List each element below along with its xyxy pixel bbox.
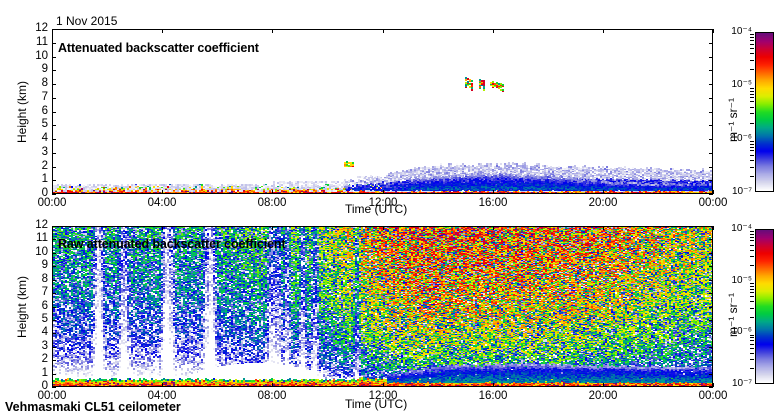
y-tick-label: 5 [22, 314, 48, 326]
colorbar-tick-label: 10⁻⁴ [722, 27, 752, 37]
y-tick-mark-right [709, 253, 713, 254]
colorbar-minor-tick [750, 107, 754, 108]
colorbar-minor-tick [750, 286, 754, 287]
colorbar-minor-tick [750, 155, 754, 156]
y-tick-label: 4 [22, 133, 48, 145]
x-tick-label: 00:00 [695, 198, 731, 210]
x-tick-mark-top [713, 226, 714, 230]
y-tick-mark [52, 57, 56, 58]
colorbar-minor-tick [750, 368, 754, 369]
y-tick-mark-right [709, 387, 713, 388]
x-tick-label: 04:00 [144, 198, 180, 210]
x-tick-mark [713, 383, 714, 387]
colorbar-minor-tick [750, 167, 754, 168]
y-tick-mark-right [709, 347, 713, 348]
x-tick-mark-top [162, 29, 163, 33]
y-tick-label: 3 [22, 147, 48, 159]
colorbar-tick-label: 10⁻⁵ [722, 80, 752, 90]
y-tick-mark [52, 139, 56, 140]
colorbar-minor-tick [750, 301, 754, 302]
colorbar-gradient-panel0 [756, 33, 773, 191]
x-tick-mark-top [603, 226, 604, 230]
y-tick-mark [52, 167, 56, 168]
y-tick-mark [52, 374, 56, 375]
x-tick-mark [162, 383, 163, 387]
x-tick-mark [603, 190, 604, 194]
y-tick-mark [52, 70, 56, 71]
colorbar-minor-tick [750, 265, 754, 266]
x-tick-mark [603, 383, 604, 387]
colorbar-minor-tick [750, 94, 754, 95]
y-tick-label: 5 [22, 119, 48, 131]
colorbar-minor-tick [750, 250, 754, 251]
y-tick-mark [52, 84, 56, 85]
y-tick-mark [52, 387, 56, 388]
x-tick-mark-top [52, 29, 53, 33]
y-tick-mark-right [709, 167, 713, 168]
colorbar-panel0 [755, 32, 774, 192]
y-tick-mark-right [709, 280, 713, 281]
y-tick-label: 7 [22, 92, 48, 104]
y-tick-mark-right [709, 194, 713, 195]
x-tick-mark-top [162, 226, 163, 230]
x-tick-label: 00:00 [695, 391, 731, 403]
y-tick-mark [52, 320, 56, 321]
colorbar-minor-tick [750, 337, 754, 338]
y-tick-label: 8 [22, 274, 48, 286]
y-tick-label: 6 [22, 106, 48, 118]
colorbar-unit-panel0: m⁻¹ sr⁻¹ [727, 98, 739, 142]
y-tick-mark-right [709, 333, 713, 334]
y-tick-mark-right [709, 139, 713, 140]
colorbar-gradient-panel1 [756, 230, 773, 383]
x-tick-mark-top [493, 29, 494, 33]
x-tick-mark [383, 383, 384, 387]
y-tick-mark [52, 43, 56, 44]
y-tick-label: 12 [22, 220, 48, 232]
colorbar-minor-tick [750, 344, 754, 345]
x-tick-label: 08:00 [254, 391, 290, 403]
colorbar-minor-tick [750, 101, 754, 102]
y-tick-mark [52, 125, 56, 126]
x-tick-mark [272, 190, 273, 194]
colorbar-minor-tick [750, 44, 754, 45]
colorbar-tick-label: 10⁻⁷ [722, 379, 752, 389]
y-tick-mark [52, 266, 56, 267]
panel-title-raw: Raw attenuated backscatter coefficient [58, 238, 286, 251]
date-label: 1 Nov 2015 [56, 15, 117, 27]
x-tick-mark [493, 190, 494, 194]
colorbar-minor-tick [750, 308, 754, 309]
y-tick-mark [52, 333, 56, 334]
colorbar-minor-tick [750, 40, 754, 41]
y-tick-mark-right [709, 84, 713, 85]
colorbar-minor-tick [750, 69, 754, 70]
colorbar-minor-tick [750, 348, 754, 349]
x-tick-mark-top [272, 226, 273, 230]
y-tick-mark [52, 153, 56, 154]
figure-caption: Vehmasmaki CL51 ceilometer [5, 401, 181, 414]
y-tick-label: 7 [22, 287, 48, 299]
colorbar-minor-tick [750, 91, 754, 92]
colorbar-minor-tick [750, 160, 754, 161]
x-tick-mark-top [493, 226, 494, 230]
x-tick-mark [713, 190, 714, 194]
y-tick-label: 9 [22, 260, 48, 272]
colorbar-tick-label: 10⁻⁷ [722, 187, 752, 197]
y-tick-label: 4 [22, 327, 48, 339]
y-tick-mark [52, 293, 56, 294]
y-tick-mark-right [709, 43, 713, 44]
x-tick-label: 12:00 [365, 198, 401, 210]
colorbar-minor-tick [750, 289, 754, 290]
colorbar-minor-tick [750, 113, 754, 114]
colorbar-unit-panel1: m⁻¹ sr⁻¹ [727, 293, 739, 337]
y-tick-label: 11 [22, 233, 48, 245]
x-tick-label: 16:00 [475, 391, 511, 403]
colorbar-minor-tick [750, 296, 754, 297]
colorbar-minor-tick [750, 237, 754, 238]
colorbar-minor-tick [750, 292, 754, 293]
colorbar-minor-tick [750, 359, 754, 360]
y-tick-mark-right [709, 98, 713, 99]
x-tick-label: 20:00 [585, 198, 621, 210]
y-tick-mark [52, 194, 56, 195]
y-tick-mark-right [709, 112, 713, 113]
y-tick-mark [52, 112, 56, 113]
y-tick-mark-right [709, 70, 713, 71]
y-tick-label: 12 [22, 23, 48, 35]
colorbar-panel1 [755, 229, 774, 384]
colorbar-minor-tick [750, 150, 754, 151]
y-tick-label: 8 [22, 78, 48, 90]
x-tick-label: 12:00 [365, 391, 401, 403]
y-tick-mark-right [709, 293, 713, 294]
colorbar-minor-tick [750, 123, 754, 124]
y-tick-label: 6 [22, 301, 48, 313]
colorbar-minor-tick [750, 317, 754, 318]
x-tick-mark [52, 190, 53, 194]
x-tick-label: 20:00 [585, 391, 621, 403]
x-tick-mark-top [272, 29, 273, 33]
y-tick-label: 9 [22, 64, 48, 76]
y-tick-mark-right [709, 266, 713, 267]
panel-title-attenuated: Attenuated backscatter coefficient [58, 42, 259, 55]
y-tick-mark [52, 347, 56, 348]
x-tick-label: 08:00 [254, 198, 290, 210]
y-tick-mark [52, 360, 56, 361]
y-tick-mark-right [709, 125, 713, 126]
colorbar-minor-tick [750, 53, 754, 54]
x-tick-mark-top [603, 29, 604, 33]
x-tick-mark-top [383, 29, 384, 33]
y-tick-label: 2 [22, 161, 48, 173]
colorbar-minor-tick [750, 256, 754, 257]
y-tick-mark [52, 239, 56, 240]
y-tick-mark-right [709, 239, 713, 240]
colorbar-minor-tick [750, 245, 754, 246]
y-tick-mark-right [709, 374, 713, 375]
colorbar-minor-tick [750, 48, 754, 49]
y-tick-mark-right [709, 360, 713, 361]
y-tick-mark-right [709, 307, 713, 308]
y-tick-label: 10 [22, 247, 48, 259]
x-tick-mark [52, 383, 53, 387]
y-tick-label: 2 [22, 354, 48, 366]
x-tick-mark [493, 383, 494, 387]
x-tick-label: 16:00 [475, 198, 511, 210]
colorbar-tick-label: 10⁻⁵ [722, 276, 752, 286]
x-tick-mark [272, 383, 273, 387]
y-tick-mark [52, 98, 56, 99]
colorbar-minor-tick [750, 60, 754, 61]
x-tick-label: 00:00 [34, 198, 70, 210]
x-tick-mark-top [52, 226, 53, 230]
colorbar-minor-tick [750, 37, 754, 38]
colorbar-minor-tick [750, 176, 754, 177]
y-tick-mark-right [709, 320, 713, 321]
y-tick-mark [52, 307, 56, 308]
y-tick-label: 3 [22, 341, 48, 353]
y-tick-label: 10 [22, 51, 48, 63]
colorbar-minor-tick [750, 234, 754, 235]
x-tick-mark-top [713, 29, 714, 33]
y-tick-mark-right [709, 153, 713, 154]
colorbar-minor-tick [750, 340, 754, 341]
y-tick-mark-right [709, 180, 713, 181]
y-tick-mark [52, 280, 56, 281]
colorbar-minor-tick [750, 97, 754, 98]
y-tick-label: 11 [22, 37, 48, 49]
y-tick-label: 1 [22, 368, 48, 380]
ceilometer-figure: 1 Nov 2015 Attenuated backscatter coeffi… [0, 0, 780, 420]
y-tick-mark-right [709, 57, 713, 58]
y-tick-label: 1 [22, 174, 48, 186]
colorbar-minor-tick [750, 144, 754, 145]
colorbar-minor-tick [750, 353, 754, 354]
y-tick-mark [52, 253, 56, 254]
colorbar-tick-label: 10⁻⁴ [722, 224, 752, 234]
y-tick-mark [52, 180, 56, 181]
x-tick-mark-top [383, 226, 384, 230]
colorbar-minor-tick [750, 240, 754, 241]
colorbar-minor-tick [750, 147, 754, 148]
x-tick-mark [162, 190, 163, 194]
x-tick-mark [383, 190, 384, 194]
